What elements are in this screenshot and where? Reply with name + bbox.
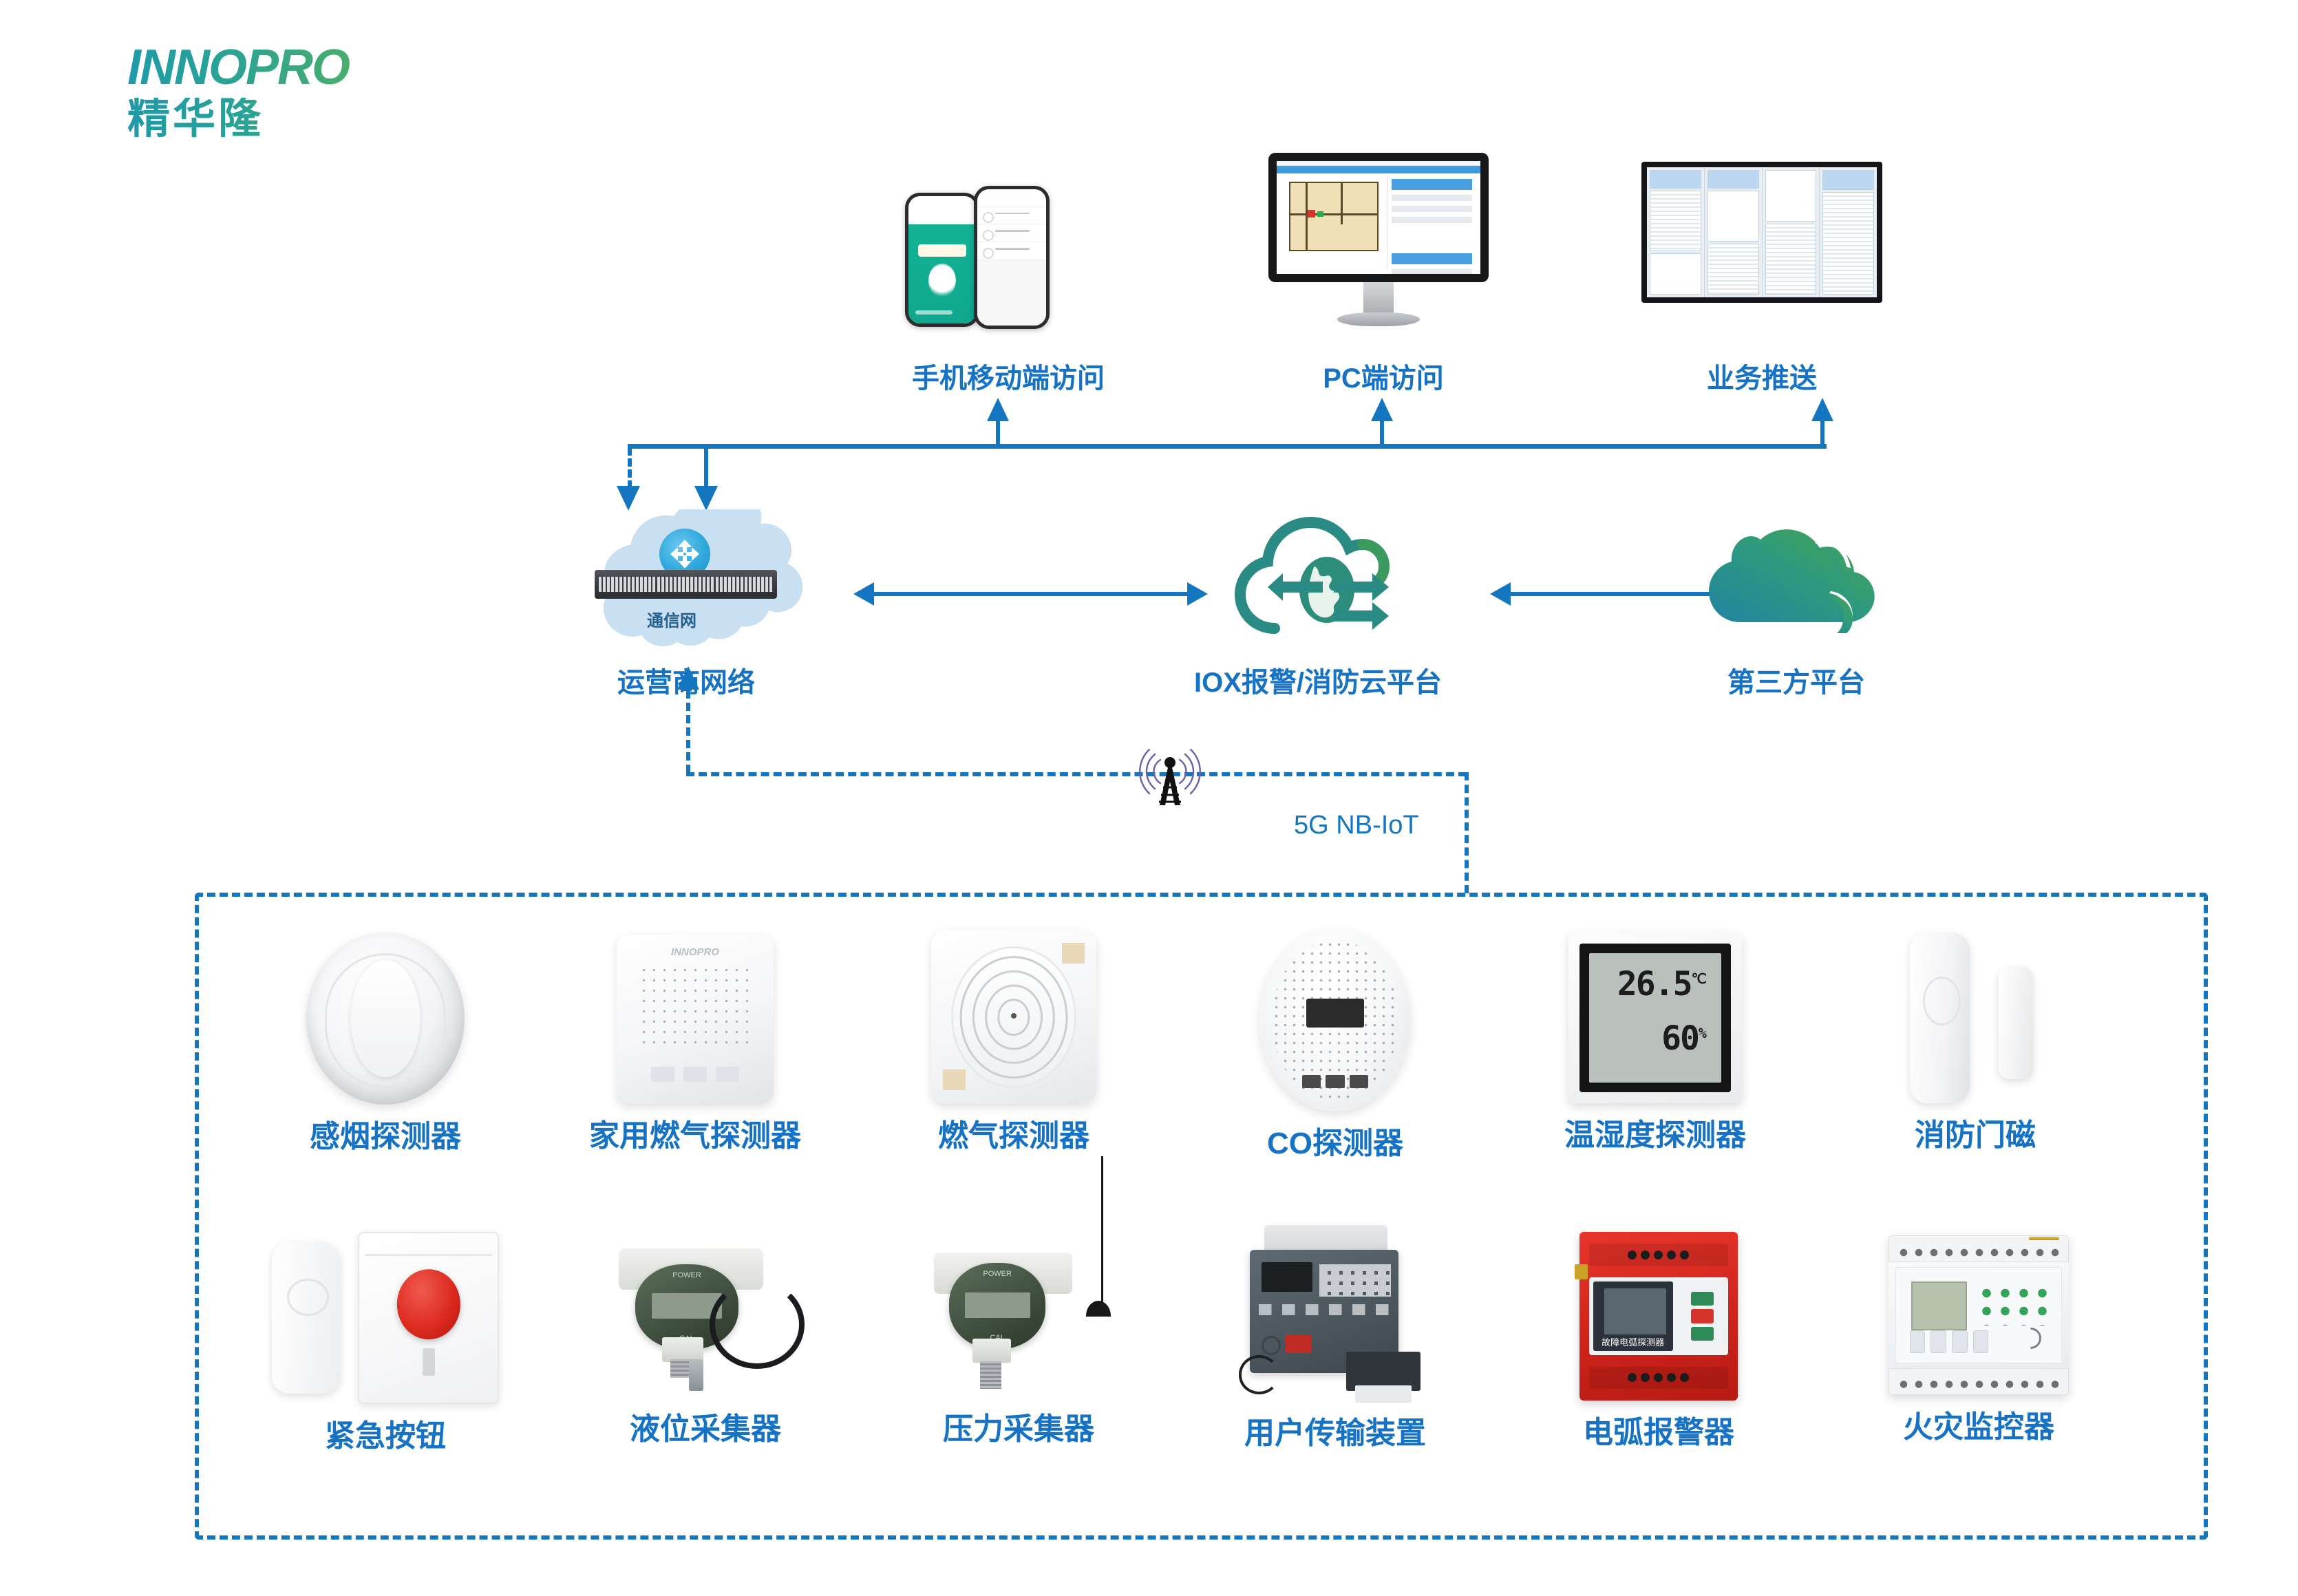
bus-drop-dashed [628,447,632,489]
device-label: 火灾监控器 [1831,1402,2127,1446]
arrow-up-push [1811,398,1833,421]
device-label: 感烟探测器 [237,1111,533,1156]
network-switch-icon [595,570,777,599]
arrow-right-cloud [1187,582,1208,606]
bus-drop-solid [704,447,708,490]
link-operator-to-cloud [874,592,1187,596]
device-label: 用户传输装置 [1187,1408,1483,1452]
stacked-cloud-icon [1694,516,1894,654]
temperature-value: 26.5℃ [1617,965,1705,1003]
antenna-tower-icon [1129,735,1211,818]
arrow-up-pc [1371,398,1393,421]
device-emergency-button[interactable]: 紧急按钮 [237,1232,533,1455]
brand-chinese-name: 精华隆 [127,98,416,140]
uplink-dashed-drop [1465,772,1469,893]
access-label-push: 业务推送 [1652,363,1872,394]
uplink-dashed-run [686,772,1467,776]
arrow-up-uplink [677,666,699,690]
device-user-transmission[interactable]: 用户传输装置 [1187,1225,1483,1452]
desktop-monitor-icon [1268,153,1496,332]
smoke-detector-icon [306,933,465,1105]
humidity-value: 60% [1661,1019,1705,1058]
uplink-dashed-riser [686,690,690,773]
device-smoke-detector[interactable]: 感烟探测器 [237,933,533,1156]
video-wall-icon [1641,162,1882,310]
brand-logo: INNOPRO 精华隆 [127,43,416,140]
arc-fault-alarm-icon: 故障电弧探测器 [1579,1232,1738,1401]
device-face-text: 故障电弧探测器 [1593,1335,1673,1348]
device-label: 消防门磁 [1838,1110,2113,1154]
emergency-button-icon [272,1232,499,1404]
device-door-magnet[interactable]: 消防门磁 [1838,933,2113,1154]
device-brand-text: INNOPRO [617,946,774,958]
device-co-detector[interactable]: CO探测器 [1187,929,1483,1162]
cloud-inner-label: 通信网 [647,607,696,631]
device-label: 燃气探测器 [866,1111,1162,1155]
gas-detector-icon [931,930,1096,1104]
platform-label-thirdparty: 第三方平台 [1693,668,1900,698]
device-temp-humidity[interactable]: 26.5℃ 60% 温湿度探测器 [1500,933,1810,1154]
bus-riser-mobile [996,420,1000,446]
access-bus-line [628,444,1827,449]
device-label: 紧急按钮 [237,1411,533,1455]
device-pressure-collector[interactable]: POWER CAL 压力采集器 [871,1225,1167,1448]
device-label: 温湿度探测器 [1500,1110,1810,1154]
network-cloud-icon: 通信网 [559,509,813,657]
brand-wordmark: INNOPRO [127,43,416,92]
pressure-collector-icon: POWER CAL [922,1225,1115,1397]
fire-monitor-icon [1889,1235,2069,1395]
device-arc-fault-alarm[interactable]: 故障电弧探测器 电弧报警器 [1511,1232,1807,1451]
diagram-canvas: INNOPRO 精华隆 手机移动端访问 [0,0,2298,1596]
cloud-globe-icon [1211,513,1418,657]
device-label: CO探测器 [1187,1118,1483,1162]
mobile-phone-icon [905,186,1063,330]
liquid-level-collector-icon: POWER CAL [602,1239,809,1397]
bus-riser-pc [1380,420,1384,446]
device-liquid-level-collector[interactable]: POWER CAL 液位采集器 [557,1239,853,1448]
access-label-mobile: 手机移动端访问 [884,363,1132,394]
door-magnet-icon [1910,933,2041,1103]
home-gas-detector-icon: INNOPRO [617,935,774,1104]
device-label: 电弧报警器 [1511,1407,1807,1451]
device-fire-monitor[interactable]: 火灾监控器 [1831,1235,2127,1446]
user-transmission-device-icon [1242,1225,1428,1401]
arrow-down-dashed [617,486,640,511]
temp-humidity-detector-icon: 26.5℃ 60% [1568,933,1742,1103]
device-label: 家用燃气探测器 [547,1111,843,1155]
arrow-left-cloud [1490,582,1511,606]
bus-riser-push [1820,420,1824,446]
access-label-pc: PC端访问 [1263,363,1504,394]
platform-label-iox: IOX报警/消防云平台 [1139,668,1497,698]
device-label: 液位采集器 [557,1404,853,1448]
device-gas-detector[interactable]: 燃气探测器 [866,930,1162,1155]
co-detector-icon [1259,929,1411,1111]
device-label: 压力采集器 [871,1404,1167,1448]
arrow-up-mobile [987,398,1009,421]
transport-label: 5G NB-IoT [1294,811,1419,840]
arrow-left-operator [853,582,874,606]
arrow-down-solid [694,486,718,511]
device-home-gas-detector[interactable]: INNOPRO 家用燃气探测器 [547,935,843,1155]
